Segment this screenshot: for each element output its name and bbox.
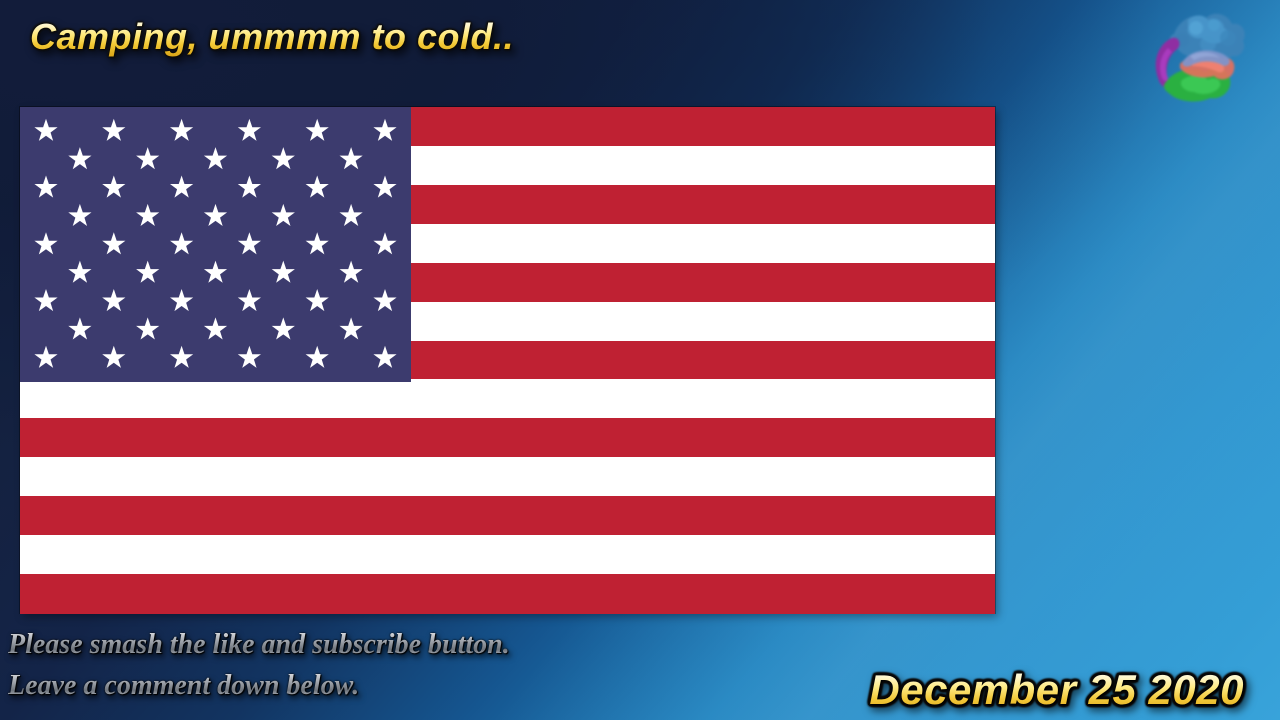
flag-star [306,346,329,368]
flag-star [136,317,159,339]
cta-line-2: Leave a comment down below. [8,665,510,706]
flag-star [68,204,91,226]
flag-star [373,232,396,254]
flag-star [34,119,57,141]
flag-star [68,261,91,283]
page-title: Camping, ummmm to cold.. [30,16,514,57]
flag-star [340,261,363,283]
video-overlay-canvas: Camping, ummmm to cold.. [0,0,1280,720]
flag-star [272,147,295,169]
channel-logo-icon [1144,8,1248,104]
flag-stripe-12 [20,535,995,575]
flag-star [170,176,193,198]
flag-star [373,289,396,311]
flag-stars [34,119,396,368]
flag-star [306,119,329,141]
flag-star [170,346,193,368]
flag-star [204,261,227,283]
flag-star [373,119,396,141]
flag-star [102,346,125,368]
flag-stripe-10 [20,457,995,497]
flag-star [238,232,261,254]
flag-star [238,176,261,198]
flag-star [272,317,295,339]
flag-star [272,204,295,226]
flag-star [238,119,261,141]
flag-star [34,289,57,311]
flag-star [136,204,159,226]
flag-star [238,346,261,368]
flag-stripe-9 [20,418,995,458]
flag-star [102,289,125,311]
date-label: December 25 2020 [869,666,1244,714]
flag-star [68,317,91,339]
flag-star [102,232,125,254]
flag-star [68,147,91,169]
flag-stripe-13 [20,574,995,614]
flag-star [170,232,193,254]
flag-star [340,317,363,339]
flag-star [136,261,159,283]
united-states-flag [20,107,995,613]
flag-stripe-11 [20,496,995,536]
flag-star [306,289,329,311]
flag-star [340,204,363,226]
flag-star [136,147,159,169]
flag-star [340,147,363,169]
flag-star [306,232,329,254]
flag-star [204,204,227,226]
flag-star [34,232,57,254]
flag-star [306,176,329,198]
flag-star [204,147,227,169]
flag-star [238,289,261,311]
cta-line-1: Please smash the like and subscribe butt… [8,624,510,665]
flag-star [272,261,295,283]
flag-stripe-8 [20,379,995,419]
call-to-action-text: Please smash the like and subscribe butt… [8,624,510,706]
flag-star [170,289,193,311]
flag-star [170,119,193,141]
flag-star [102,176,125,198]
flag-star [373,346,396,368]
flag-star [373,176,396,198]
flag-star [34,346,57,368]
flag-star [102,119,125,141]
flag-star [204,317,227,339]
flag-canton [20,107,411,382]
flag-star [34,176,57,198]
